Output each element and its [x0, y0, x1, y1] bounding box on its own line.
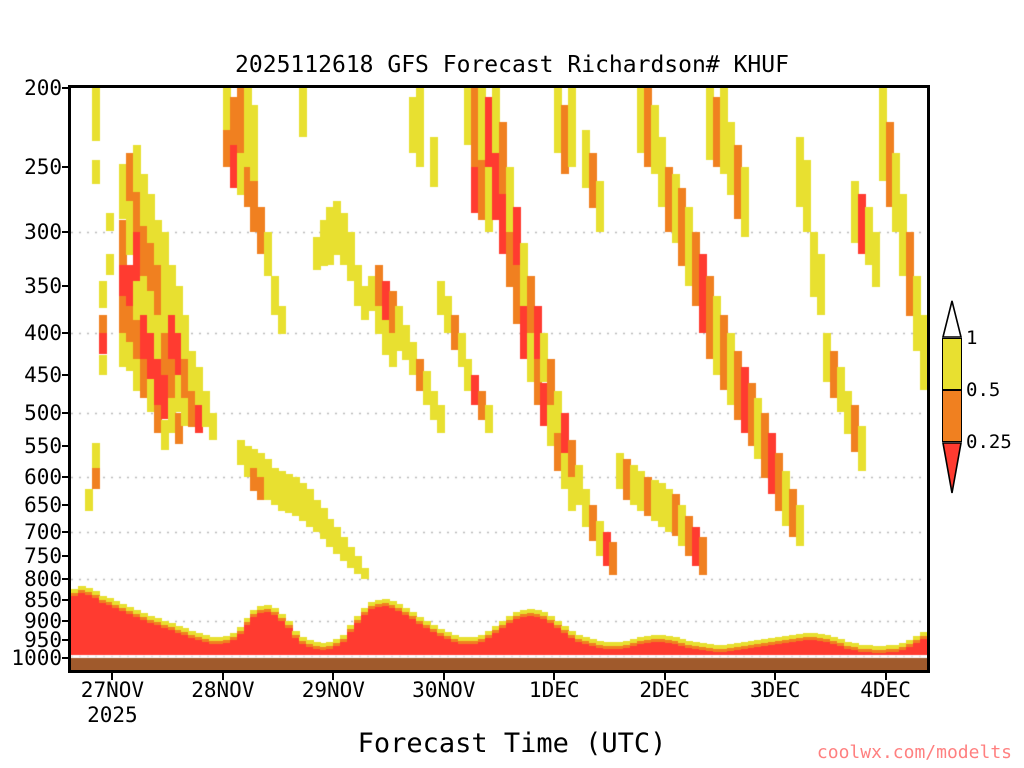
x-tick-mark — [774, 673, 776, 680]
x-tick-label-3DEC: 3DEC — [750, 678, 801, 702]
x-tick-label-4DEC: 4DEC — [860, 678, 911, 702]
colorbar-arrow-outline — [942, 300, 962, 338]
x-tick-mark — [885, 673, 887, 680]
x-tick-label-28NOV: 28NOV — [191, 678, 254, 702]
x-tick-label-29NOV: 29NOV — [302, 678, 365, 702]
colorbar-tick-label-0.25: 0.25 — [966, 433, 1012, 452]
x-tick-mark — [443, 673, 445, 680]
chart-stage: 2025112618 GFS Forecast Richardson# KHUF… — [0, 0, 1024, 768]
x-tick-mark — [111, 673, 113, 680]
watermark: coolwx.com/modelts — [817, 742, 1012, 763]
colorbar-tick-label-1: 1 — [966, 329, 977, 348]
x-tick-label-1DEC: 1DEC — [529, 678, 580, 702]
x-tick-mark — [222, 673, 224, 680]
x-tick-mark — [553, 673, 555, 680]
x-axis: 2025 27NOV28NOV29NOV30NOV1DEC2DEC3DEC4DE… — [0, 0, 1024, 768]
x-tick-mark — [332, 673, 334, 680]
colorbar-band-2[interactable] — [942, 390, 962, 442]
colorbar-tick-label-0.5: 0.5 — [966, 381, 1000, 400]
x-tick-mark — [664, 673, 666, 680]
colorbar[interactable]: 10.50.25 — [942, 300, 962, 460]
x-tick-label-2DEC: 2DEC — [639, 678, 690, 702]
colorbar-band-1[interactable] — [942, 338, 962, 390]
colorbar-arrow-below-min — [942, 442, 962, 494]
x-tick-label-27NOV: 27NOV — [81, 678, 144, 702]
x-axis-year-label: 2025 — [87, 703, 138, 727]
x-tick-label-30NOV: 30NOV — [412, 678, 475, 702]
